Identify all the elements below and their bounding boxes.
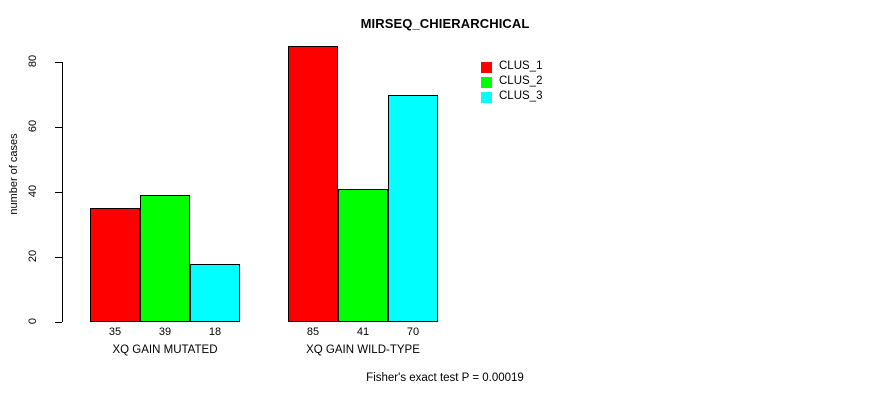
bar-value-group1-clus3: 18	[190, 326, 240, 338]
y-axis-tick-60	[55, 127, 62, 128]
y-axis-tick-label-60-text: 60	[27, 120, 39, 132]
x-axis-group-label-wild-type: XQ GAIN WILD-TYPE	[263, 344, 463, 356]
bar-value-group1-clus2: 39	[140, 326, 190, 338]
bar-value-group1-clus1: 35	[90, 326, 140, 338]
bar-group1-clus1	[90, 208, 140, 322]
y-axis-tick-40	[55, 192, 62, 193]
y-axis-tick-label-80-text: 80	[27, 55, 39, 67]
y-axis-tick-label-80: 80	[16, 55, 50, 67]
y-axis-tick-label-0-text: 0	[27, 318, 39, 324]
y-axis-tick-20	[55, 257, 62, 258]
bar-group2-clus3	[388, 95, 438, 323]
y-axis-tick-label-60: 60	[16, 120, 50, 132]
bar-chart-plot: MIRSEQ_CHIERARCHICAL 0 20 40 60 80 numbe…	[0, 0, 890, 400]
y-axis-tick-label-0: 0	[16, 315, 50, 327]
bar-group1-clus2	[140, 195, 190, 322]
bar-group1-clus3	[190, 264, 240, 323]
y-axis-line	[62, 62, 63, 322]
y-axis-tick-0	[55, 322, 62, 323]
statistics-annotation: Fisher's exact test P = 0.00019	[0, 372, 890, 384]
x-axis-group-label-mutated: XQ GAIN MUTATED	[65, 344, 265, 356]
legend-swatch-clus1-icon	[481, 62, 492, 73]
bar-value-group2-clus1: 85	[288, 326, 338, 338]
legend-label-clus1: CLUS_1	[499, 60, 542, 72]
bar-value-group2-clus2: 41	[338, 326, 388, 338]
bar-value-group2-clus3: 70	[388, 326, 438, 338]
legend-swatch-clus2-icon	[481, 77, 492, 88]
y-axis-tick-label-40: 40	[16, 185, 50, 197]
legend-swatch-clus3-icon	[481, 92, 492, 103]
y-axis-tick-label-40-text: 40	[27, 185, 39, 197]
y-axis-tick-label-20-text: 20	[27, 250, 39, 262]
y-axis-tick-80	[55, 62, 62, 63]
bar-group2-clus2	[338, 189, 388, 322]
y-axis-title: number of cases	[8, 124, 20, 224]
legend-label-clus3: CLUS_3	[499, 90, 542, 102]
y-axis-tick-label-20: 20	[16, 250, 50, 262]
legend-label-clus2: CLUS_2	[499, 75, 542, 87]
page-title: MIRSEQ_CHIERARCHICAL	[0, 16, 890, 31]
bar-group2-clus1	[288, 46, 338, 322]
